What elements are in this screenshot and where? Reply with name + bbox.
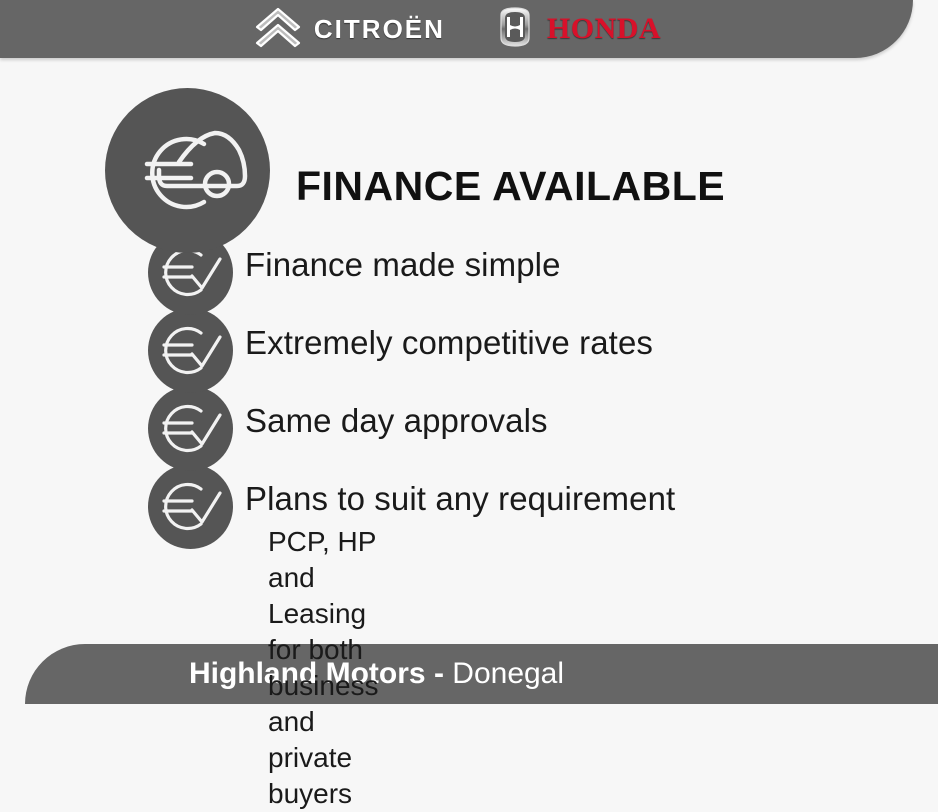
page-title: FINANCE AVAILABLE bbox=[296, 163, 725, 210]
brand-logo-citroen: CITROËN bbox=[252, 7, 445, 51]
citroen-wordmark: CITROËN bbox=[314, 14, 445, 45]
euro-check-icon bbox=[148, 308, 233, 393]
dealer-footer-bar: Highland Motors - Donegal bbox=[25, 644, 938, 704]
brand-logo-honda: HONDA bbox=[493, 7, 661, 51]
euro-car-finance-icon bbox=[105, 88, 270, 253]
dealer-separator: - bbox=[434, 657, 444, 690]
brand-header-bar: CITROËN HONDA bbox=[0, 0, 913, 58]
benefit-label: Finance made simple bbox=[245, 246, 561, 284]
benefit-sublabel: PCP, HP and Leasing for both business an… bbox=[268, 524, 379, 812]
euro-check-icon bbox=[148, 464, 233, 549]
dealer-location: Donegal bbox=[452, 657, 564, 690]
benefit-label: Extremely competitive rates bbox=[245, 324, 653, 362]
honda-wordmark: HONDA bbox=[547, 12, 661, 46]
benefit-label: Same day approvals bbox=[245, 402, 548, 440]
main-content: FINANCE AVAILABLE Finance made simple bbox=[0, 58, 938, 630]
citroen-double-chevron-icon bbox=[252, 5, 304, 54]
euro-check-icon bbox=[148, 386, 233, 471]
honda-h-emblem-icon bbox=[493, 5, 537, 54]
benefit-label: Plans to suit any requirement bbox=[245, 480, 675, 518]
